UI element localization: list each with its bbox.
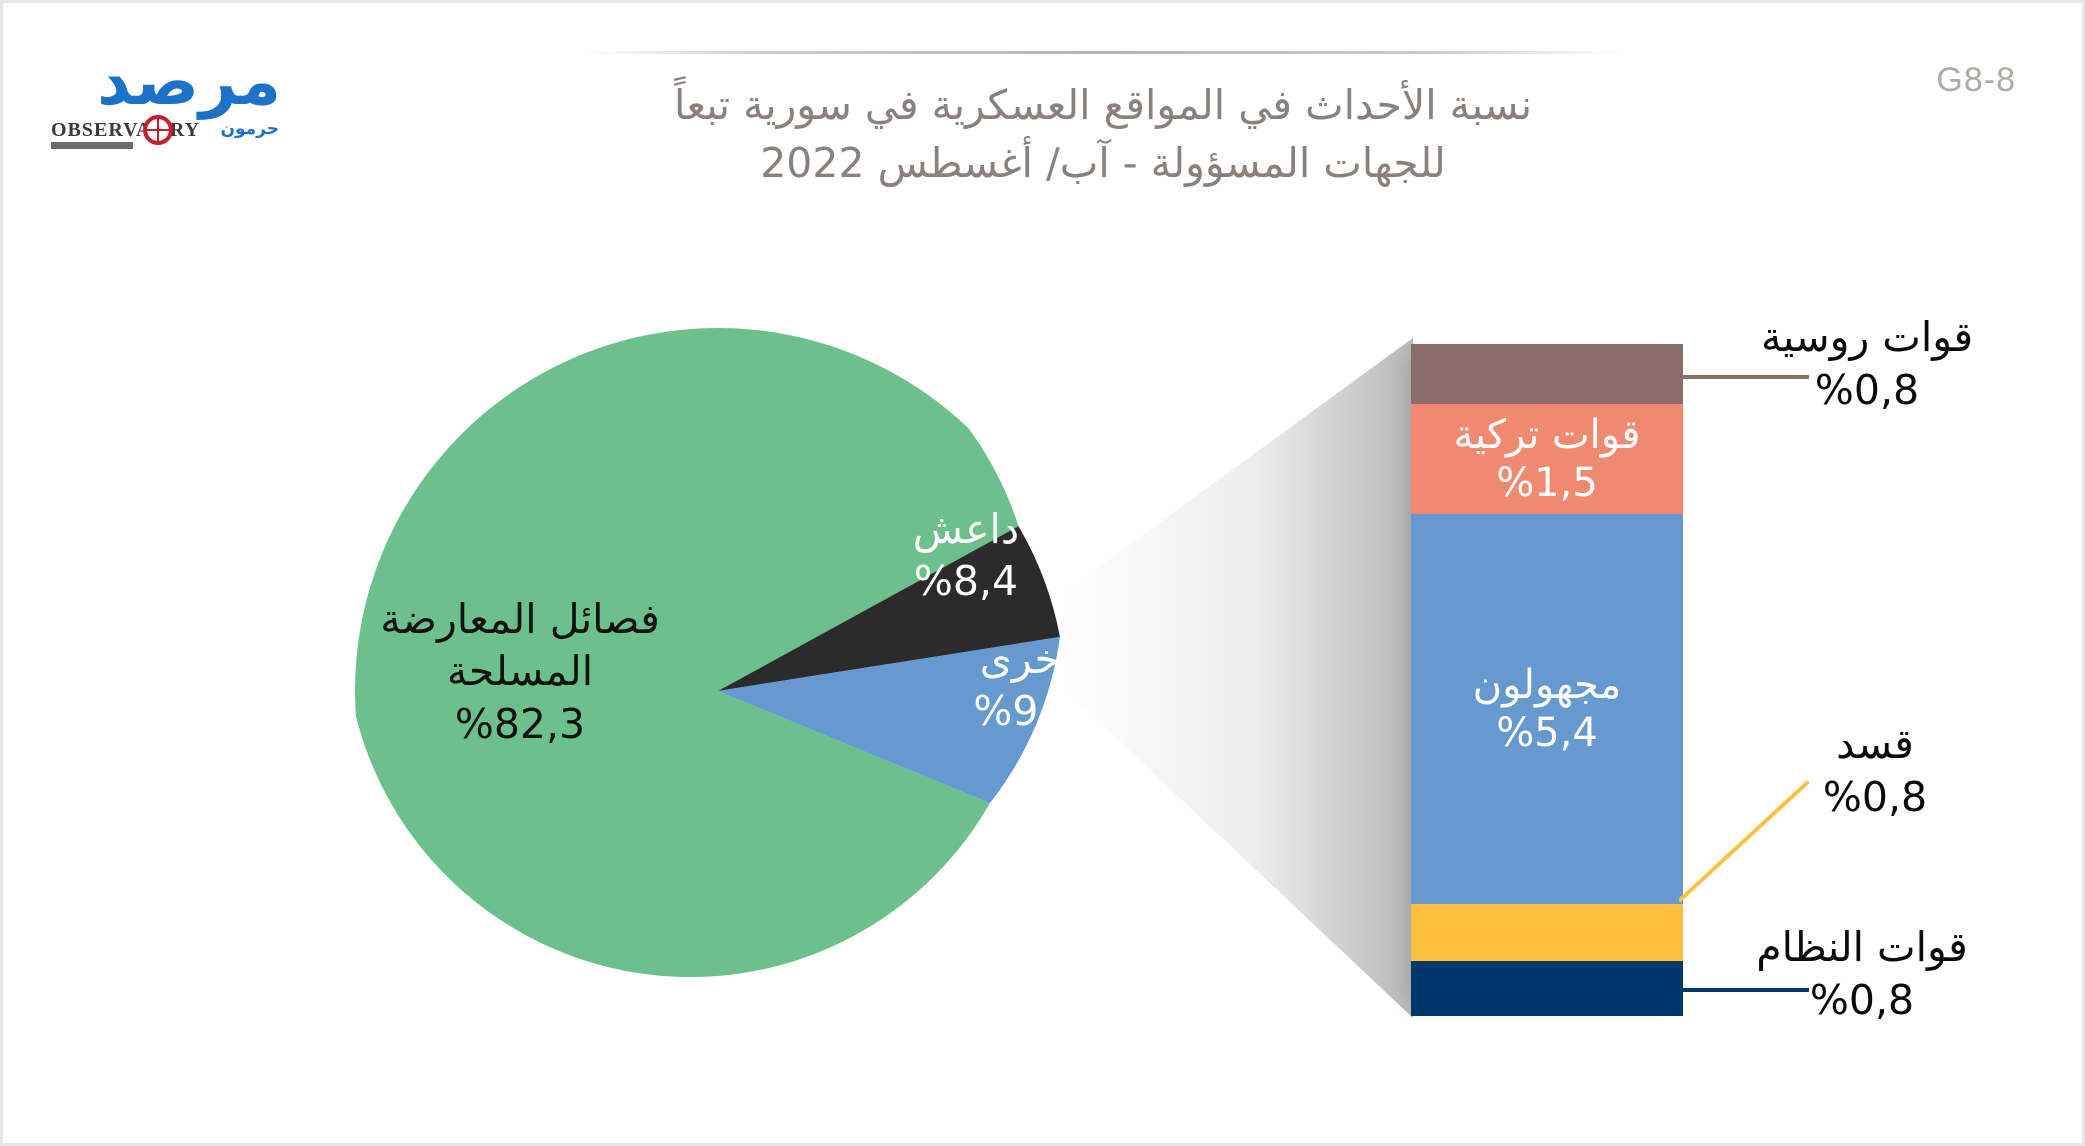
callout-russian-forces: قوات روسية %0,8 <box>1722 311 2012 418</box>
bar-segment-russian-forces <box>1411 344 1683 404</box>
breakout-stacked-bar: قوات تركية %1,5 مجهولون %5,4 <box>1411 344 1683 1016</box>
bar-segment-unknown-name: مجهولون <box>1473 661 1622 709</box>
logo-wordmark-arabic: مرصد <box>97 45 281 119</box>
bar-segment-unknown: مجهولون %5,4 <box>1411 514 1683 904</box>
chart-title-line-2: للجهات المسؤولة - آب/ أغسطس 2022 <box>583 134 1623 192</box>
callout-regime-forces: قوات النظام %0,8 <box>1712 921 2012 1028</box>
logo-underline <box>51 142 133 149</box>
crosshair-icon <box>143 115 173 145</box>
breakout-connector <box>1063 338 1413 1018</box>
chart-title-line-1: نسبة الأحداث في المواقع العسكرية في سوري… <box>583 76 1623 134</box>
callout-regime-forces-name: قوات النظام <box>1712 921 2012 974</box>
callout-regime-forces-value: %0,8 <box>1712 974 2012 1027</box>
logo-subtitle-arabic: حرمون <box>220 119 279 139</box>
callout-sdf: قسد %0,8 <box>1750 718 2000 825</box>
bar-segment-sdf <box>1411 904 1683 961</box>
bar-segment-turkish-forces-name: قوات تركية <box>1453 411 1640 459</box>
chart-title-block: نسبة الأحداث في المواقع العسكرية في سوري… <box>583 51 1623 192</box>
organization-logo: مرصد حرمون OBSERVAT RY <box>51 45 281 141</box>
bar-segment-turkish-forces: قوات تركية %1,5 <box>1411 404 1683 514</box>
bar-segment-turkish-forces-value: %1,5 <box>1496 459 1598 507</box>
slide-code: G8-8 <box>1936 61 2016 100</box>
callout-russian-forces-value: %0,8 <box>1722 364 2012 417</box>
bar-segment-unknown-value: %5,4 <box>1496 709 1598 757</box>
logo-wordmark-latin: OBSERVAT RY <box>51 119 200 142</box>
bar-segment-regime-forces <box>1411 961 1683 1016</box>
title-divider <box>583 51 1623 54</box>
callout-sdf-name: قسد <box>1750 718 2000 771</box>
callout-sdf-value: %0,8 <box>1750 771 2000 824</box>
callout-russian-forces-name: قوات روسية <box>1722 311 2012 364</box>
slide-canvas: مرصد حرمون OBSERVAT RY G8-8 نسبة الأحداث… <box>0 0 2085 1146</box>
pie-chart <box>355 328 1081 1054</box>
